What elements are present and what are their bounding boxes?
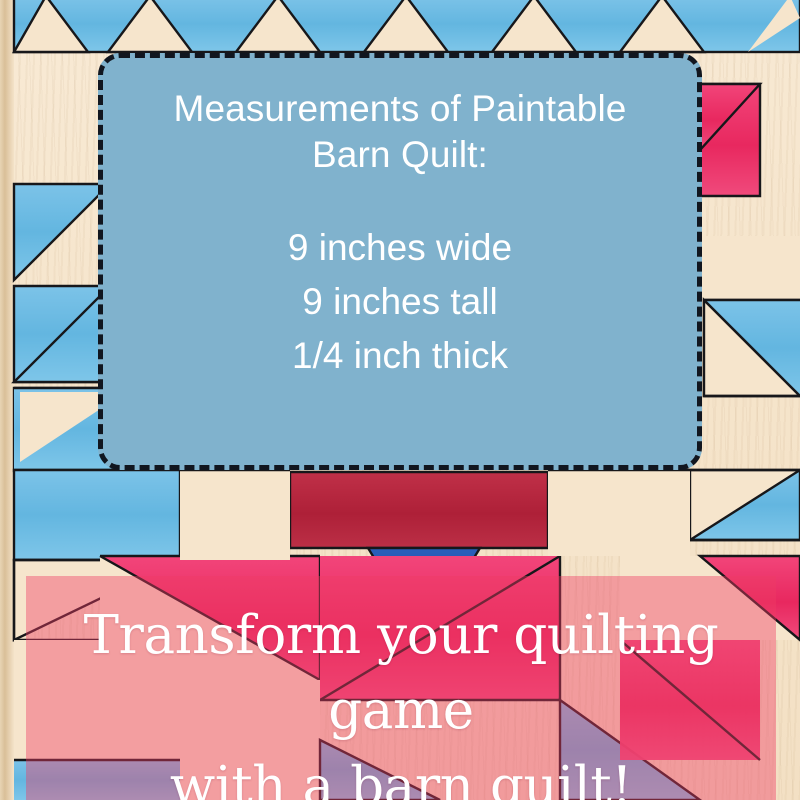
callout-title-line-2: Barn Quilt: — [174, 132, 627, 178]
callout-title: Measurements of Paintable Barn Quilt: — [174, 86, 627, 178]
measurements-callout-box: Measurements of Paintable Barn Quilt: 9 … — [98, 53, 702, 470]
measurements-list: 9 inches wide 9 inches tall 1/4 inch thi… — [288, 222, 512, 381]
callout-title-line-1: Measurements of Paintable — [174, 86, 627, 132]
barn-quilt-promo-image: Measurements of Paintable Barn Quilt: 9 … — [0, 0, 800, 800]
measurement-thickness: 1/4 inch thick — [292, 330, 508, 381]
measurement-height: 9 inches tall — [302, 276, 497, 327]
bottom-banner-overlay — [26, 576, 776, 800]
measurement-width: 9 inches wide — [288, 222, 512, 273]
